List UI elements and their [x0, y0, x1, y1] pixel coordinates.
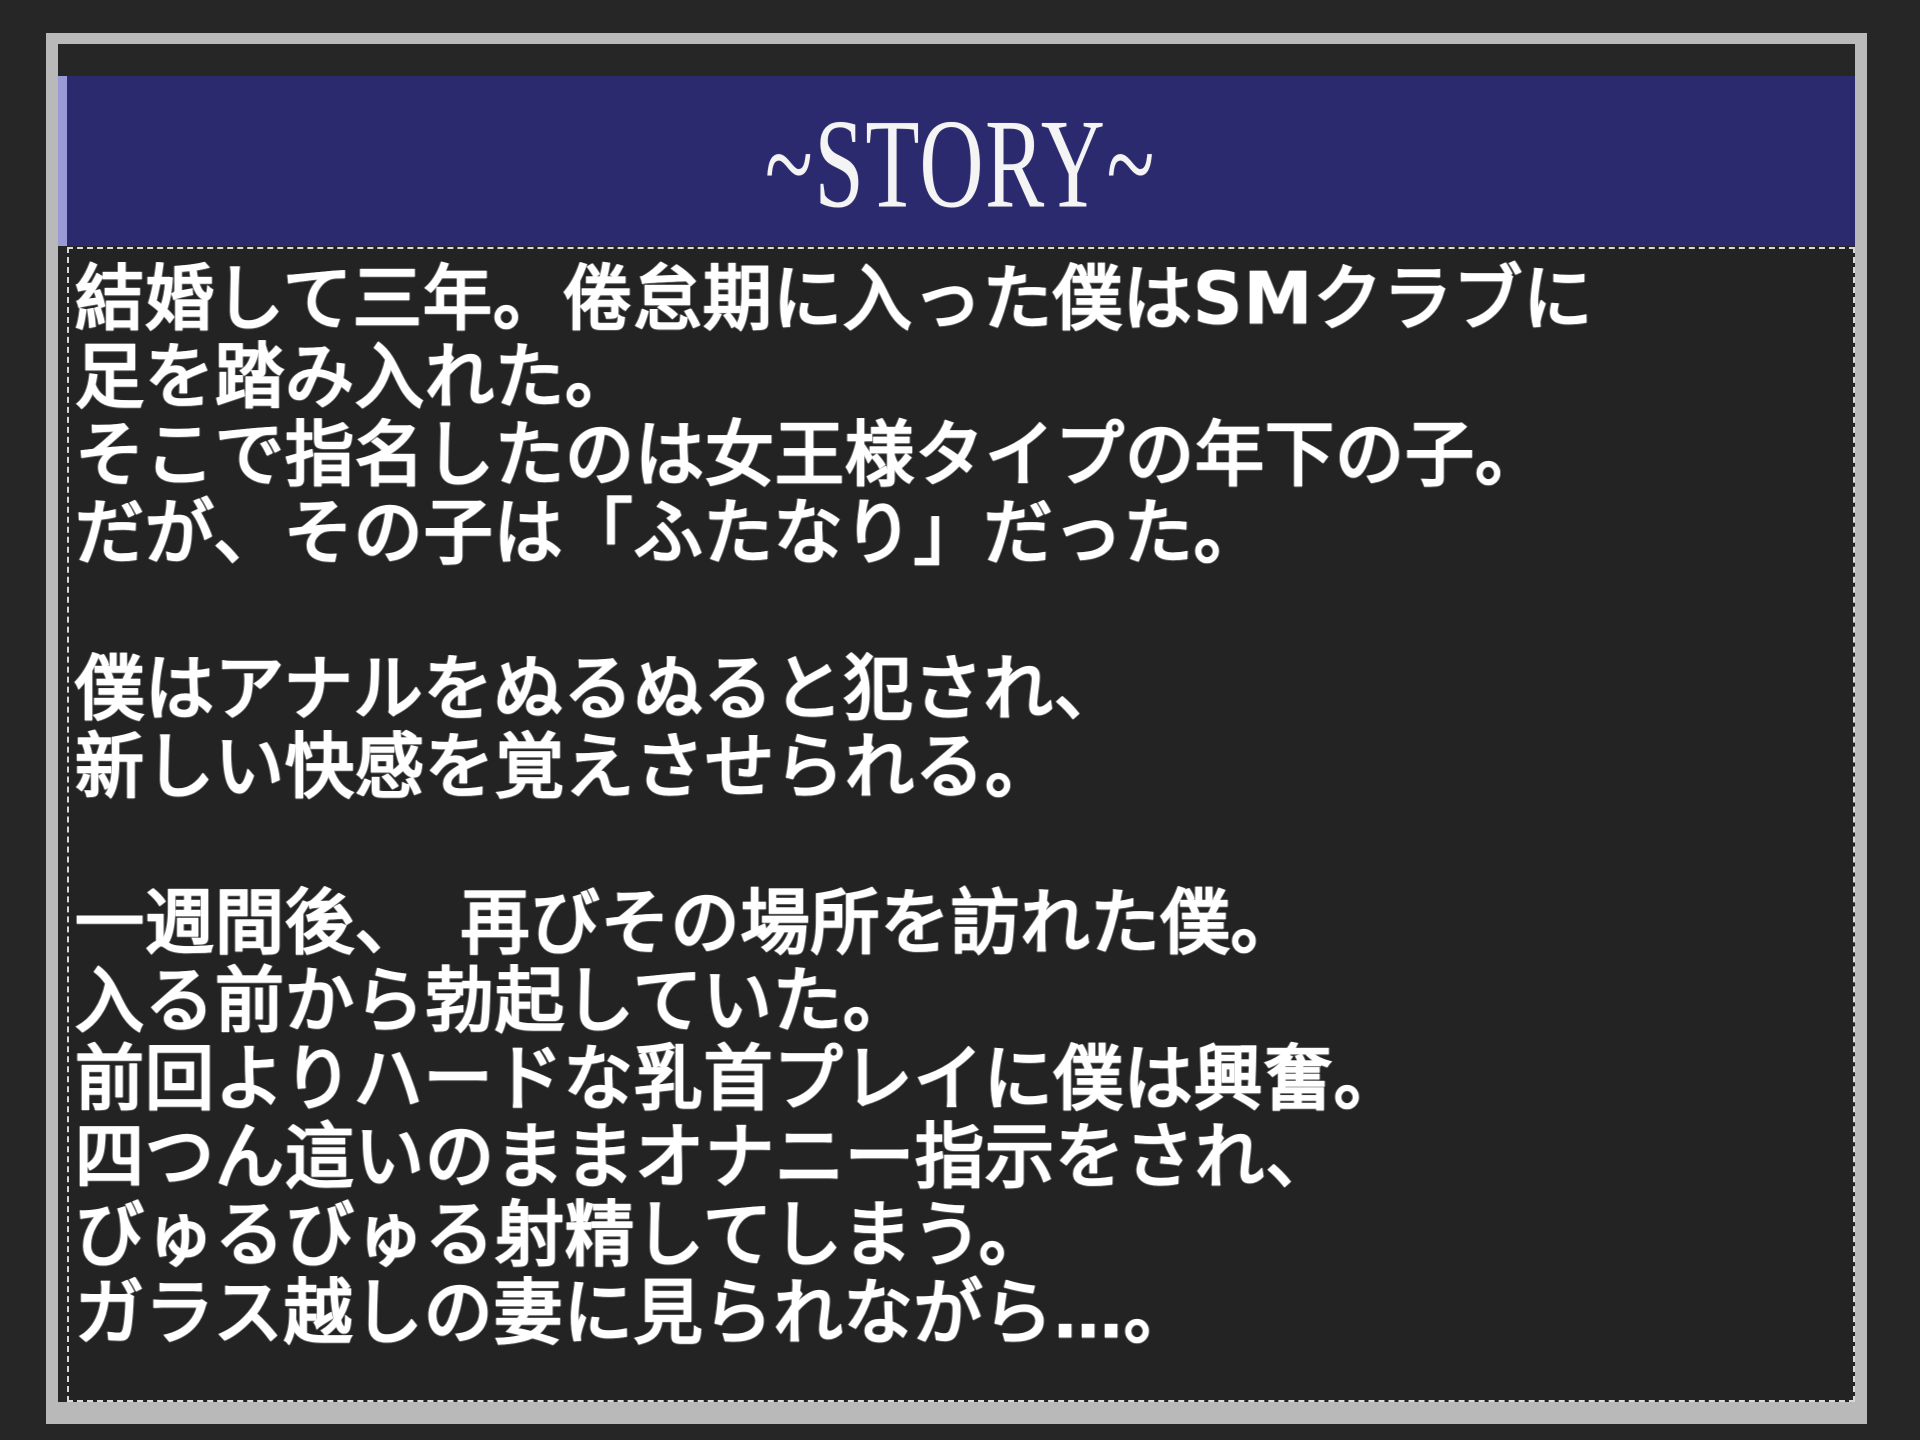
story-line: ガラス越しの妻に見られながら…。 [75, 1273, 1853, 1354]
page-canvas: ~STORY~ 結婚して三年。倦怠期に入った僕はSMクラブに足を踏み入れた。そこ… [0, 0, 1920, 1440]
frame-bottom-strip [58, 1402, 1855, 1424]
story-text-panel: 結婚して三年。倦怠期に入った僕はSMクラブに足を踏み入れた。そこで指名したのは女… [67, 247, 1855, 1402]
content-frame: ~STORY~ 結婚して三年。倦怠期に入った僕はSMクラブに足を踏み入れた。そこ… [46, 33, 1867, 1424]
story-line: 入る前から勃起していた。 [75, 961, 1853, 1042]
story-title-band: ~STORY~ [58, 76, 1855, 246]
story-line: 四つん這いのままオナニー指示をされ、 [75, 1117, 1853, 1198]
frame-top-gutter [58, 44, 1855, 76]
story-line [75, 571, 1853, 652]
story-line: 僕はアナルをぬるぬると犯され、 [75, 649, 1853, 730]
story-line: 足を踏み入れた。 [75, 337, 1853, 418]
story-line [75, 805, 1853, 886]
story-line: 新しい快感を覚えさせられる。 [75, 727, 1853, 808]
story-line-list: 結婚して三年。倦怠期に入った僕はSMクラブに足を踏み入れた。そこで指名したのは女… [75, 259, 1853, 1351]
story-line: だが、その子は「ふたなり」だった。 [75, 493, 1853, 574]
story-line: びゅるびゅる射精してしまう。 [75, 1195, 1853, 1276]
story-line: 前回よりハードな乳首プレイに僕は興奮。 [75, 1039, 1853, 1120]
story-line: 結婚して三年。倦怠期に入った僕はSMクラブに [75, 259, 1853, 340]
story-line: 一週間後、 再びその場所を訪れた僕。 [75, 883, 1853, 964]
story-line: そこで指名したのは女王様タイプの年下の子。 [75, 415, 1853, 496]
page-title: ~STORY~ [765, 101, 1156, 228]
